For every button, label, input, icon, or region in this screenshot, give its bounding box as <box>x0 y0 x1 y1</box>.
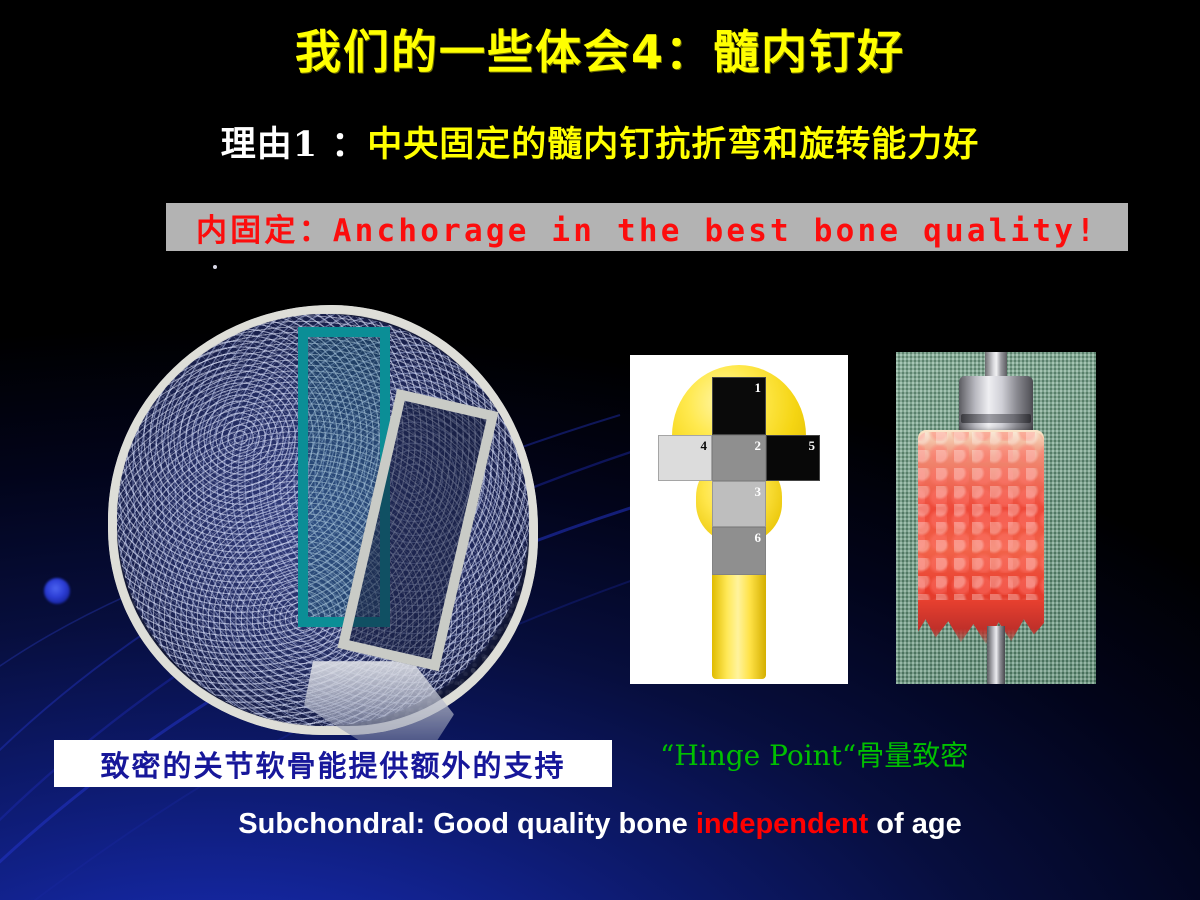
pin-lower-shaft <box>987 626 1005 684</box>
caption-hinge-point: “Hinge Point“骨量致密 <box>660 734 1060 774</box>
region-square-2: 2 <box>712 435 766 481</box>
region-square-5: 5 <box>766 435 820 481</box>
region-label-6: 6 <box>755 531 762 544</box>
caption-box-left: 致密的关节软骨能提供额外的支持 <box>54 740 612 787</box>
bottom-suffix: of age <box>868 808 961 840</box>
bottom-prefix: Subchondral: Good quality bone <box>238 808 696 840</box>
background-accent-dot <box>44 578 70 604</box>
region-label-5: 5 <box>809 439 816 452</box>
stray-dot-marker <box>213 265 217 269</box>
cancellous-bone-core <box>918 432 1044 616</box>
bone-core-photo <box>896 352 1096 684</box>
bottom-summary-line: Subchondral: Good quality bone independe… <box>0 808 1200 841</box>
region-square-1: 1 <box>712 377 766 435</box>
region-square-3: 3 <box>712 481 766 527</box>
region-label-2: 2 <box>755 439 762 452</box>
anchorage-banner: 内固定：Anchorage in the best bone quality! <box>166 203 1128 251</box>
region-label-4: 4 <box>701 439 708 452</box>
slide-subtitle: 理由1 ：中央固定的髓内钉抗折弯和旋转能力好 <box>0 116 1200 167</box>
slide-canvas: 我们的一些体会4：髓内钉好 理由1 ：中央固定的髓内钉抗折弯和旋转能力好 内固定… <box>0 0 1200 900</box>
region-square-4: 4 <box>658 435 712 481</box>
bone-core-frayed-end <box>918 600 1044 648</box>
region-label-1: 1 <box>755 381 762 394</box>
page-title: 我们的一些体会4：髓内钉好 <box>0 16 1200 82</box>
humerus-model: 1 4 2 5 3 6 <box>664 361 814 679</box>
region-label-3: 3 <box>755 485 762 498</box>
caption-left-text: 致密的关节软骨能提供额外的支持 <box>100 743 565 785</box>
subtitle-main: 中央固定的髓内钉抗折弯和旋转能力好 <box>367 124 979 165</box>
region-square-6: 6 <box>712 527 766 575</box>
metal-chuck <box>959 376 1033 434</box>
anchorage-banner-text: 内固定：Anchorage in the best bone quality! <box>196 205 1098 250</box>
subtitle-prefix: 理由1 ： <box>221 124 368 165</box>
humerus-region-diagram: 1 4 2 5 3 6 <box>630 355 848 684</box>
microct-bone-figure <box>108 305 538 735</box>
bottom-emphasis: independent <box>696 808 868 840</box>
